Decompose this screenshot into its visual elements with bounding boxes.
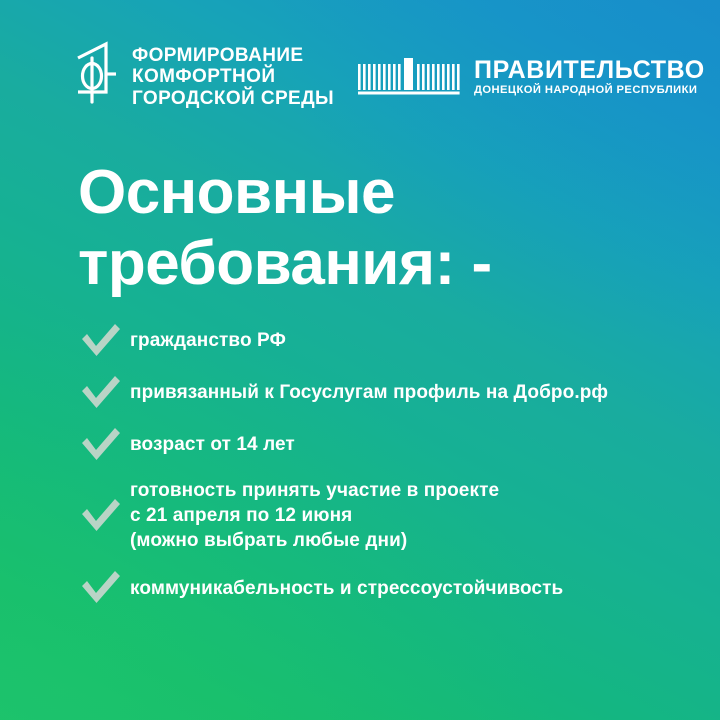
- list-item: коммуникабельность и стрессоустойчивость: [80, 569, 680, 607]
- list-item: гражданство РФ: [80, 322, 680, 360]
- fkgs-logo-line-1: ФОРМИРОВАНИЕ: [132, 45, 334, 66]
- list-item-line: (можно выбрать любые дни): [130, 528, 499, 553]
- list-item-line: возраст от 14 лет: [130, 432, 295, 457]
- fkgs-logo: ФОРМИРОВАНИЕ КОМФОРТНОЙ ГОРОДСКОЙ СРЕДЫ: [72, 40, 334, 114]
- check-mark-icon: [80, 497, 122, 535]
- list-item-line: привязанный к Госуслугам профиль на Добр…: [130, 380, 608, 405]
- page-title: Основные требования: -: [78, 158, 678, 299]
- list-item-label: возраст от 14 лет: [130, 432, 295, 457]
- fkgs-logo-text: ФОРМИРОВАНИЕ КОМФОРТНОЙ ГОРОДСКОЙ СРЕДЫ: [132, 45, 334, 109]
- poster-header: ФОРМИРОВАНИЕ КОМФОРТНОЙ ГОРОДСКОЙ СРЕДЫ: [0, 40, 720, 120]
- list-item-label: привязанный к Госуслугам профиль на Добр…: [130, 380, 608, 405]
- check-mark-icon: [80, 426, 122, 464]
- poster-canvas: ФОРМИРОВАНИЕ КОМФОРТНОЙ ГОРОДСКОЙ СРЕДЫ: [0, 0, 720, 720]
- requirements-checklist: гражданство РФ привязанный к Госуслугам …: [80, 322, 680, 621]
- check-mark-icon: [80, 374, 122, 412]
- government-logo-text: ПРАВИТЕЛЬСТВО ДОНЕЦКОЙ НАРОДНОЙ РЕСПУБЛИ…: [474, 58, 705, 96]
- check-mark-icon: [80, 569, 122, 607]
- government-logo: ПРАВИТЕЛЬСТВО ДОНЕЦКОЙ НАРОДНОЙ РЕСПУБЛИ…: [358, 56, 705, 98]
- page-title-line-1: Основные: [78, 158, 678, 229]
- fkgs-logo-line-3: ГОРОДСКОЙ СРЕДЫ: [132, 88, 334, 109]
- list-item-line: готовность принять участие в проекте: [130, 478, 499, 503]
- list-item-line: коммуникабельность и стрессоустойчивость: [130, 576, 563, 601]
- fkgs-logo-line-2: КОМФОРТНОЙ: [132, 66, 334, 87]
- list-item-line: гражданство РФ: [130, 328, 286, 353]
- house-monogram-icon: [72, 40, 118, 114]
- check-mark-icon: [80, 322, 122, 360]
- government-logo-title: ПРАВИТЕЛЬСТВО: [474, 58, 705, 83]
- list-item: возраст от 14 лет: [80, 426, 680, 464]
- page-title-line-2: требования: -: [78, 229, 678, 300]
- government-building-colonnade-icon: [358, 56, 462, 98]
- list-item-label: коммуникабельность и стрессоустойчивость: [130, 576, 563, 601]
- list-item-label: гражданство РФ: [130, 328, 286, 353]
- list-item: привязанный к Госуслугам профиль на Добр…: [80, 374, 680, 412]
- list-item-line: с 21 апреля по 12 июня: [130, 503, 499, 528]
- list-item-label: готовность принять участие в проекте с 2…: [130, 478, 499, 553]
- list-item: готовность принять участие в проекте с 2…: [80, 478, 680, 553]
- government-logo-subtitle: ДОНЕЦКОЙ НАРОДНОЙ РЕСПУБЛИКИ: [474, 85, 705, 96]
